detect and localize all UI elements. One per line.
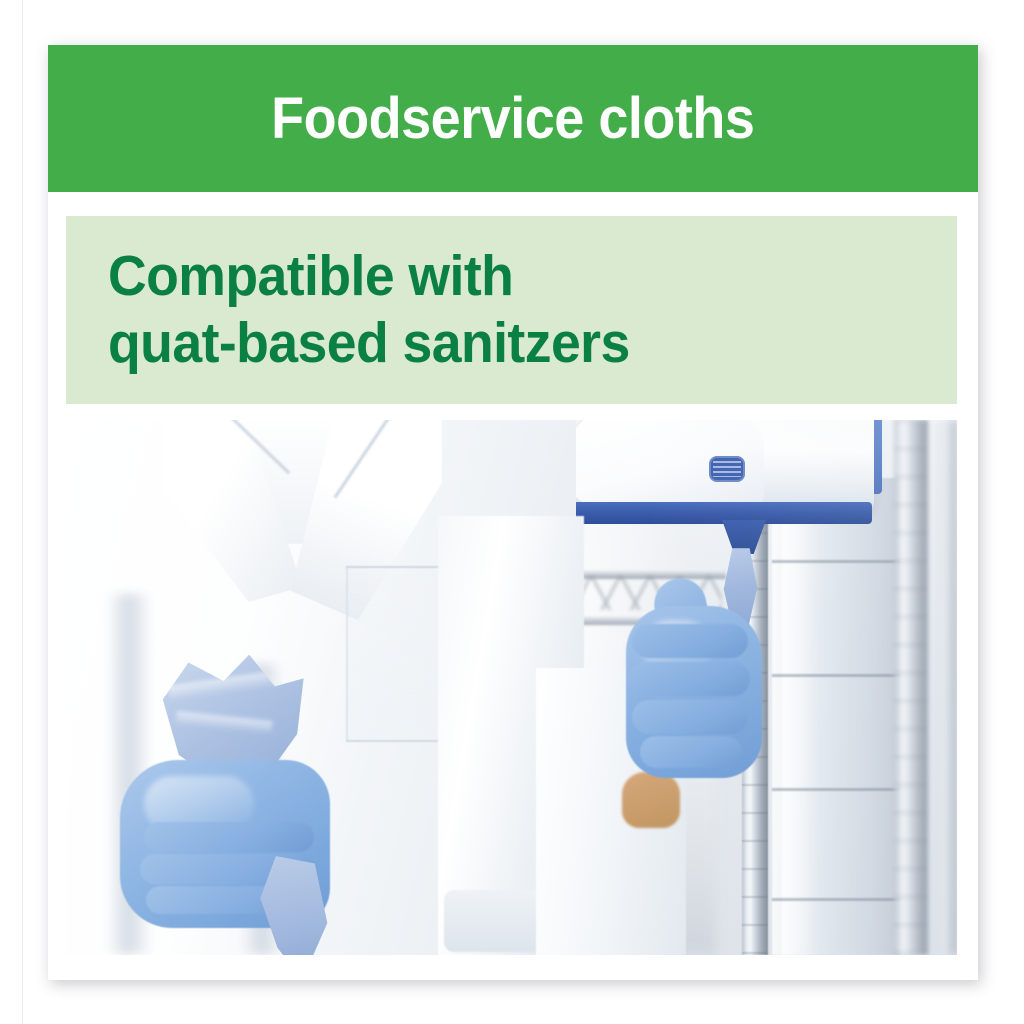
dispenser-vent-icon: [709, 456, 745, 482]
glove-finger: [144, 822, 314, 852]
bin-edge: [772, 898, 900, 901]
subhead-block: Compatible with quat-based sanitzers: [66, 216, 957, 404]
subhead-line-2: quat-based sanitzers: [108, 310, 906, 377]
glove-finger: [640, 736, 742, 768]
product-photo: [66, 420, 957, 955]
dispenser-trim-strip: [566, 502, 872, 524]
page-title: Foodservice cloths: [271, 90, 754, 148]
header-banner: Foodservice cloths: [48, 45, 978, 192]
glove-finger: [632, 624, 748, 658]
shelving-post-right: [894, 420, 928, 955]
shelving-post-far-right: [938, 420, 957, 955]
bin-edge: [772, 674, 900, 677]
product-card: Foodservice cloths Compatible with quat-…: [48, 45, 978, 980]
cloth-fold: [176, 711, 273, 735]
photo-scene: [66, 420, 957, 955]
gloved-hand-right: [626, 606, 762, 778]
glove-finger: [628, 662, 750, 696]
post-rings: [894, 420, 928, 955]
bin-edge: [772, 788, 900, 791]
wrist-skin: [622, 772, 680, 828]
bin-gloss: [782, 478, 818, 955]
bin-edge: [772, 560, 900, 563]
plastic-bin-stack: [772, 478, 900, 955]
product-infographic-page: Foodservice cloths Compatible with quat-…: [0, 0, 1024, 1024]
glove-finger: [632, 700, 748, 734]
subhead-line-1: Compatible with: [108, 243, 906, 310]
